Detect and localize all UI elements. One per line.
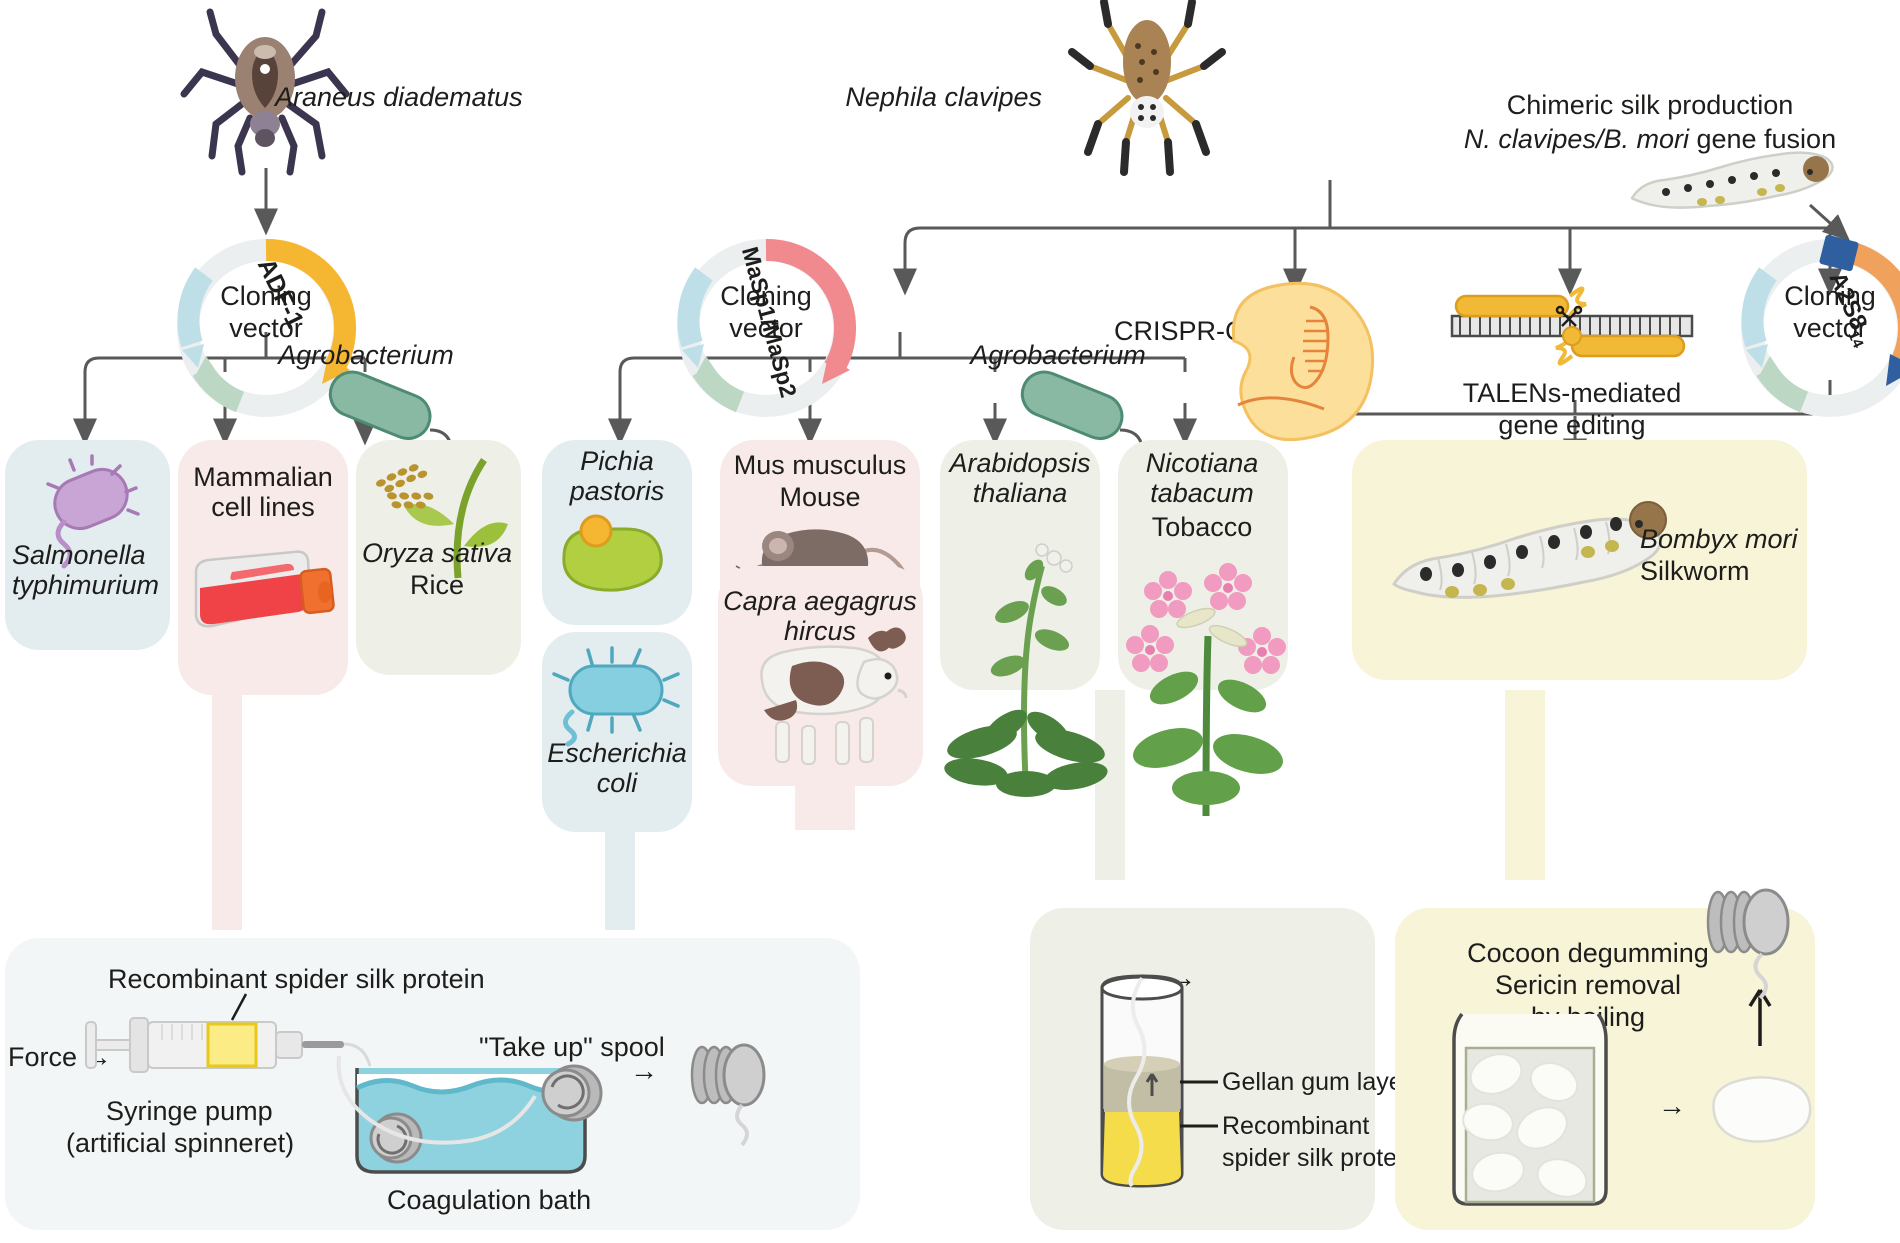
label-recombinant-protein: Recombinant spider silk protein — [108, 964, 485, 994]
label-gellan-gum: Gellan gum layer — [1222, 1068, 1411, 1096]
label-rice-italic: Oryza sativa — [362, 538, 512, 568]
takeup-spool-icon — [530, 1055, 610, 1135]
cocoon-flow-arrow-icon: → — [1658, 1090, 1686, 1121]
diagram-canvas: Araneus diadematus Nephila clavipes Chim… — [0, 0, 1900, 1243]
label-rice-plain: Rice — [410, 570, 464, 600]
cell-culture-flask-icon — [190, 530, 340, 650]
label-mouse-italic: Mus musculus — [734, 450, 907, 480]
label-mammalian: Mammalian cell lines — [193, 462, 333, 522]
label-cocoon-2: Sericin removal — [1495, 970, 1681, 1000]
label-araneus-diadematus: Araneus diadematus — [275, 82, 523, 112]
stem-mammalian — [212, 690, 242, 930]
force-text: Force — [8, 1042, 77, 1072]
silk-thread-spool-icon — [1690, 880, 1830, 1010]
label-bombyx-italic: Bombyx mori — [1640, 524, 1798, 554]
degummed-fibroin-icon — [1700, 1060, 1820, 1160]
label-recomb-line1: Recombinant — [1222, 1112, 1369, 1140]
label-salmonella: Salmonella typhimurium — [12, 540, 159, 600]
label-talens-line1: TALENs-mediated — [1463, 378, 1682, 408]
label-agrobacterium-left: Agrobacterium — [278, 340, 454, 370]
label-ecoli: Escherichia coli — [547, 738, 687, 798]
label-bombyx-plain: Silkworm — [1640, 556, 1750, 586]
silkworm-large-icon — [1380, 490, 1670, 620]
tobacco-plant-icon — [1110, 540, 1305, 820]
boiling-beaker-icon — [1440, 1000, 1650, 1220]
arabidopsis-icon — [930, 500, 1120, 800]
talens-icon — [1452, 282, 1692, 372]
stem-silkworm — [1505, 690, 1545, 880]
pichia-yeast-icon — [552, 505, 682, 615]
label-recomb-line2: spider silk protein — [1222, 1144, 1417, 1172]
gellan-tube-icon — [1050, 960, 1250, 1210]
label-tobacco-plain: Tobacco — [1152, 512, 1253, 542]
chimeric-title: Chimeric silk production — [1507, 90, 1794, 120]
silkworm-top-icon — [1620, 150, 1840, 220]
label-tobacco-italic: Nicotiana tabacum — [1146, 448, 1259, 508]
goat-icon — [740, 618, 910, 768]
spool-transfer-arrow-icon: → — [630, 1055, 658, 1086]
label-nephila-clavipes: Nephila clavipes — [845, 82, 1042, 112]
agrobacterium-left-icon — [322, 370, 442, 442]
label-talens-line2: gene editing — [1498, 410, 1645, 440]
label-cocoon-1: Cocoon degumming — [1467, 938, 1709, 968]
label-syringe-pump-2: (artificial spinneret) — [66, 1128, 294, 1158]
label-pichia: Pichia pastoris — [570, 446, 665, 506]
label-syringe-pump-1: Syringe pump — [106, 1096, 273, 1126]
nephila-clavipes-icon — [1052, 0, 1242, 180]
silk-spool-product-icon — [678, 1035, 788, 1155]
label-mouse-plain: Mouse — [779, 482, 860, 512]
chimeric-sub-a: N. clavipes — [1464, 124, 1596, 154]
crispr-cas9-icon — [1200, 275, 1390, 445]
agrobacterium-mid-icon — [1014, 370, 1134, 442]
